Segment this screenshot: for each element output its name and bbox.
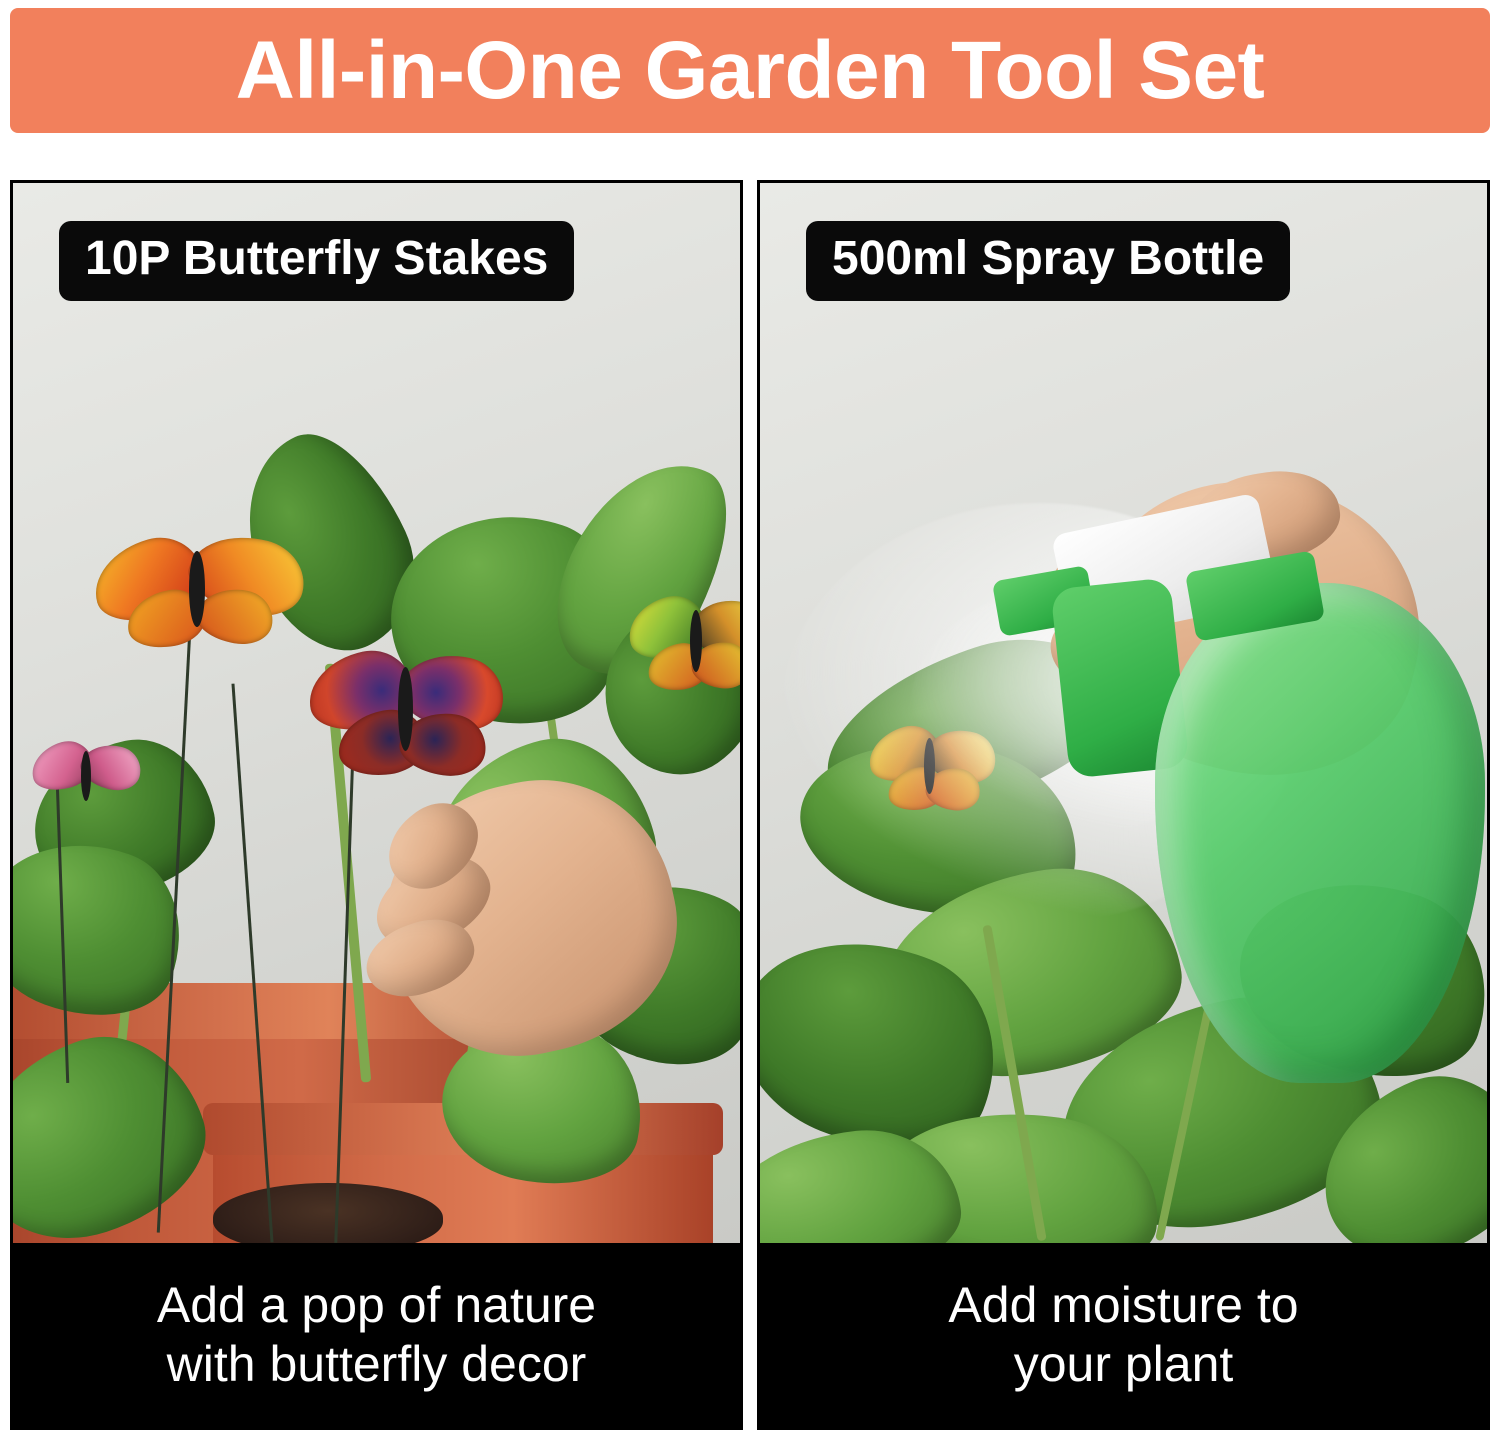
panel-row: 10P Butterfly Stakes Add a pop of nature…	[10, 180, 1490, 1430]
panel-caption-butterfly-stakes: Add a pop of nature with butterfly decor	[13, 1243, 740, 1427]
panel-caption-spray-bottle: Add moisture to your plant	[760, 1243, 1487, 1427]
header-banner: All-in-One Garden Tool Set	[10, 8, 1490, 133]
butterfly-stake-decoration	[31, 743, 141, 823]
caption-line-2: with butterfly decor	[167, 1335, 587, 1394]
panel-spray-bottle: 500ml Spray Bottle Add moisture to your …	[757, 180, 1490, 1430]
butterfly-body	[398, 667, 413, 751]
pot-soil	[213, 1183, 443, 1249]
butterfly-stake-decoration	[628, 598, 740, 703]
caption-line-1: Add moisture to	[948, 1276, 1298, 1335]
panel-badge-spray-bottle: 500ml Spray Bottle	[806, 221, 1290, 301]
butterfly-body	[81, 751, 91, 801]
caption-line-1: Add a pop of nature	[157, 1276, 596, 1335]
spray-bottle-body	[1155, 583, 1485, 1083]
butterfly-stake-decoration	[308, 653, 508, 793]
butterfly-stakes-photo: 10P Butterfly Stakes	[13, 183, 740, 1249]
butterfly-body	[189, 551, 205, 627]
panel-butterfly-stakes: 10P Butterfly Stakes Add a pop of nature…	[10, 180, 743, 1430]
product-infographic: All-in-One Garden Tool Set	[0, 0, 1500, 1443]
panel-badge-butterfly-stakes: 10P Butterfly Stakes	[59, 221, 574, 301]
page-title: All-in-One Garden Tool Set	[236, 30, 1265, 112]
caption-line-2: your plant	[1014, 1335, 1234, 1394]
butterfly-body	[690, 610, 702, 672]
spray-bottle-photo: 500ml Spray Bottle	[760, 183, 1487, 1249]
butterfly-stake-decoration	[93, 533, 308, 663]
